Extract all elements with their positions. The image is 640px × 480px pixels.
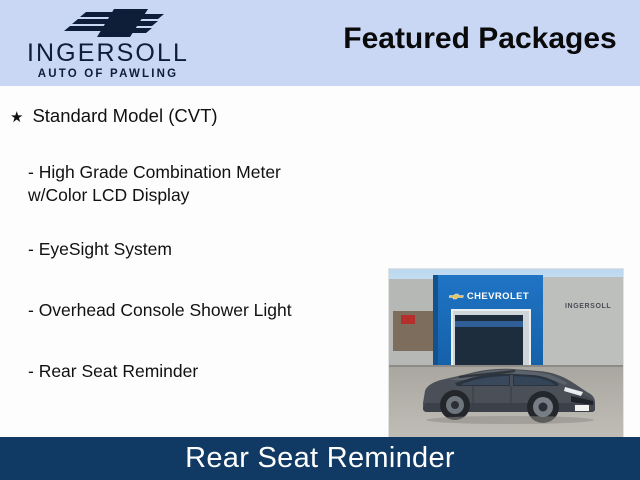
main-bullet-item: ★ Standard Model (CVT) — [10, 105, 218, 129]
photo-left-building-windows — [393, 311, 437, 351]
photo-left-building-sign — [401, 315, 415, 324]
ingersoll-winged-emblem-icon — [56, 6, 166, 40]
list-item: - Overhead Console Shower Light — [28, 299, 358, 322]
chevrolet-bowtie-icon — [449, 293, 464, 300]
slide-content: ★ Standard Model (CVT) - High Grade Comb… — [0, 86, 640, 437]
brand-logo-block: INGERSOLL AUTO OF PAWLING — [8, 4, 208, 84]
header-band: INGERSOLL AUTO OF PAWLING Featured Packa… — [0, 0, 640, 86]
page-title: Featured Packages — [330, 22, 630, 56]
list-item: - Rear Seat Reminder — [28, 360, 358, 383]
brand-subwordmark: AUTO OF PAWLING — [8, 68, 208, 81]
photo-dealership-sign: CHEVROLET — [443, 291, 535, 302]
photo-building-sign-text: INGERSOLL — [565, 303, 611, 310]
main-bullet-label: Standard Model (CVT) — [32, 105, 217, 127]
footer-banner-text: Rear Seat Reminder — [185, 442, 455, 475]
list-item: - EyeSight System — [28, 238, 358, 261]
brand-wordmark: INGERSOLL — [8, 40, 208, 66]
feature-list: - High Grade Combination Meter w/Color L… — [28, 161, 358, 421]
suv-vehicle-icon — [415, 353, 603, 425]
photo-dealership-sign-text: CHEVROLET — [467, 291, 529, 302]
footer-banner: Rear Seat Reminder — [0, 437, 640, 480]
star-bullet-icon: ★ — [10, 107, 23, 129]
list-item: - High Grade Combination Meter w/Color L… — [28, 161, 358, 207]
vehicle-photo: INGERSOLL CHEVROLET — [388, 268, 624, 451]
vehicle-photo-scene: INGERSOLL CHEVROLET — [389, 269, 623, 450]
photo-service-bay-stripe — [455, 321, 523, 327]
